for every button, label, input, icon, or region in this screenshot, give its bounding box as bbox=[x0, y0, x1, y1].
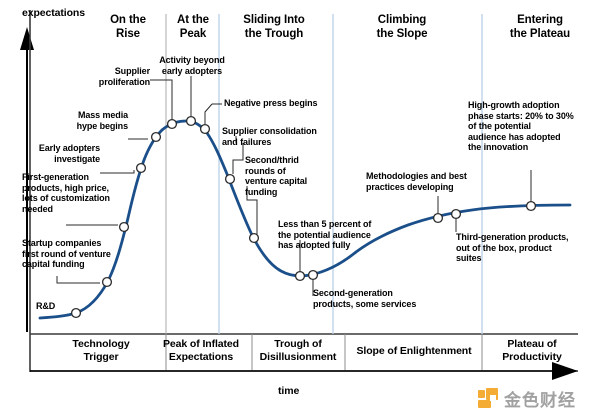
annotation-third-generation-products: Third-generation products, out of the bo… bbox=[456, 232, 578, 264]
phase-header-on-the-rise: On the Rise bbox=[88, 14, 168, 41]
annotation-startup-companies: Startup companies first round of venture… bbox=[22, 238, 122, 270]
marker-methodologies-best-practices bbox=[434, 214, 443, 223]
annotation-negative-press-begins: Negative press begins bbox=[224, 98, 340, 109]
marker-startup-companies bbox=[103, 278, 112, 287]
marker-rd bbox=[72, 309, 81, 318]
marker-activity-beyond-early-adopters bbox=[187, 117, 196, 126]
stage-label-slope-of-enlightenment: Slope of Enlightenment bbox=[346, 345, 482, 358]
marker-mass-media-hype-begins bbox=[152, 133, 161, 142]
stage-label-trough-of-disillusionment: Trough of Disillusionment bbox=[246, 338, 350, 363]
annotation-supplier-consolidation: Supplier consolidation and failures bbox=[222, 126, 332, 147]
time-axis-arrow bbox=[30, 362, 578, 380]
phase-header-entering-the-plateau: Entering the Plateau bbox=[488, 14, 592, 41]
marker-negative-press-begins bbox=[201, 125, 210, 134]
annotation-supplier-proliferation: Supplier proliferation bbox=[88, 66, 150, 87]
marker-supplier-consolidation bbox=[226, 175, 235, 184]
annotation-activity-beyond-early-adopters: Activity beyond early adopters bbox=[153, 55, 231, 76]
watermark: 金色财经 bbox=[478, 386, 576, 411]
x-axis-label: time bbox=[278, 385, 299, 397]
hype-cycle-diagram: expectations time On the Rise At the Pea… bbox=[0, 0, 600, 417]
marker-third-generation-products bbox=[452, 210, 461, 219]
stage-label-technology-trigger: Technology Trigger bbox=[38, 338, 164, 363]
annotation-first-generation-products: First-generation products, high price, l… bbox=[22, 172, 128, 214]
marker-supplier-proliferation bbox=[168, 120, 177, 129]
annotation-methodologies-best-practices: Methodologies and best practices develop… bbox=[366, 171, 486, 192]
marker-second-generation-products bbox=[309, 271, 318, 280]
marker-less-than-5-percent bbox=[296, 272, 305, 281]
annotation-second-generation-products: Second-generation products, some service… bbox=[313, 288, 431, 309]
annotation-high-growth-adoption: High-growth adoption phase starts: 20% t… bbox=[468, 100, 588, 153]
stage-label-plateau-of-productivity: Plateau of Productivity bbox=[484, 338, 580, 363]
marker-early-adopters-investigate bbox=[137, 164, 146, 173]
phase-header-sliding-into-the-trough: Sliding Into the Trough bbox=[224, 14, 324, 41]
watermark-text: 金色财经 bbox=[504, 386, 576, 411]
annotation-early-adopters-investigate: Early adopters investigate bbox=[34, 143, 100, 164]
watermark-logo-icon bbox=[478, 388, 499, 409]
marker-first-generation-products bbox=[120, 223, 129, 232]
y-axis-label: expectations bbox=[22, 7, 85, 19]
phase-header-climbing-the-slope: Climbing the Slope bbox=[352, 14, 452, 41]
annotation-mass-media-hype-begins: Mass media hype begins bbox=[58, 110, 128, 131]
marker-high-growth-adoption bbox=[527, 202, 536, 211]
annotation-less-than-5-percent: Less than 5 percent of the potential aud… bbox=[278, 219, 386, 251]
annotation-rd: R&D bbox=[36, 301, 55, 312]
marker-venture-capital-rounds bbox=[250, 234, 259, 243]
annotation-venture-capital-rounds: Second/thrid rounds of venture capital f… bbox=[245, 155, 323, 197]
stage-label-peak-of-inflated-expectations: Peak of Inflated Expectations bbox=[148, 338, 254, 363]
phase-header-at-the-peak: At the Peak bbox=[168, 14, 218, 41]
